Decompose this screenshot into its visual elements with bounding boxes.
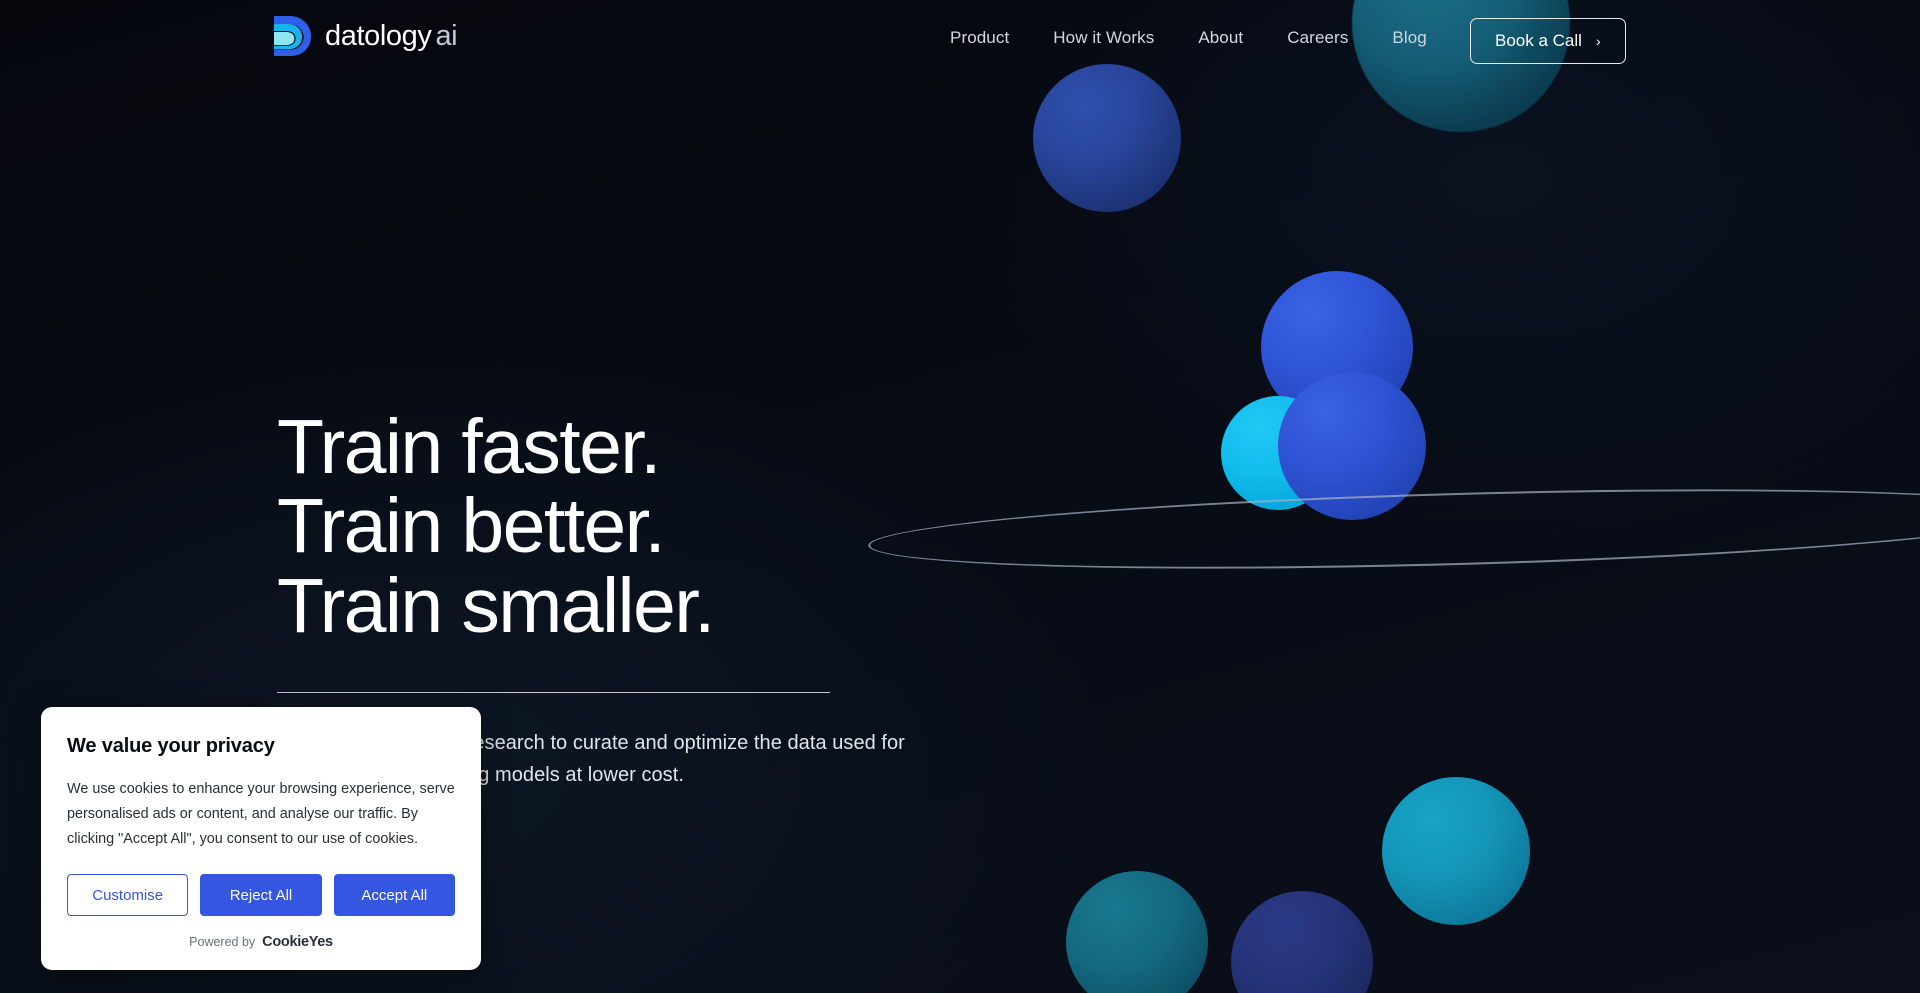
- decor-sphere-navy-bottom-mid: [1231, 891, 1373, 993]
- page-root: datologyai Product How it Works About Ca…: [0, 0, 1920, 993]
- site-header: datologyai Product How it Works About Ca…: [0, 0, 1920, 80]
- nav-item-about[interactable]: About: [1198, 28, 1243, 48]
- datology-d-arcs-logo: [270, 14, 312, 58]
- hero-headline-line-3: Train smaller.: [277, 567, 1017, 646]
- brand-wordmark: datologyai: [325, 22, 457, 51]
- powered-by-label: Powered by: [189, 935, 255, 949]
- cookie-banner-title: We value your privacy: [67, 735, 455, 758]
- brand-name: datology: [325, 20, 431, 52]
- hero-headline: Train faster. Train better. Train smalle…: [277, 408, 1017, 646]
- hero-divider: [277, 692, 830, 693]
- decor-sphere-navy-top: [1033, 64, 1181, 212]
- book-a-call-label: Book a Call: [1495, 31, 1582, 51]
- cookie-reject-all-button[interactable]: Reject All: [200, 874, 321, 916]
- nav-item-how-it-works[interactable]: How it Works: [1053, 28, 1154, 48]
- hero-headline-line-2: Train better.: [277, 487, 1017, 566]
- decor-sphere-cyan-bottom-right: [1382, 777, 1530, 925]
- nav-item-product[interactable]: Product: [950, 28, 1009, 48]
- cookieyes-brand-logo: CookieYes: [262, 934, 333, 950]
- brand-suffix: ai: [435, 20, 457, 52]
- nav-item-careers[interactable]: Careers: [1287, 28, 1348, 48]
- cookie-banner-body: We use cookies to enhance your browsing …: [67, 777, 455, 852]
- decor-sphere-teal-bottom-left: [1066, 871, 1208, 993]
- book-a-call-button[interactable]: Book a Call ›: [1470, 18, 1626, 64]
- primary-nav: Product How it Works About Careers Blog: [950, 28, 1427, 48]
- nav-item-blog[interactable]: Blog: [1392, 28, 1426, 48]
- cookie-banner-footer: Powered by CookieYes: [67, 934, 455, 954]
- cookie-accept-all-button[interactable]: Accept All: [334, 874, 455, 916]
- hero-headline-line-1: Train faster.: [277, 408, 1017, 487]
- cookie-banner-actions: Customise Reject All Accept All: [67, 874, 455, 916]
- cookie-customise-button[interactable]: Customise: [67, 874, 188, 916]
- brand-logo-link[interactable]: datologyai: [270, 14, 457, 58]
- cookie-consent-banner: We value your privacy We use cookies to …: [41, 707, 481, 970]
- chevron-right-icon: ›: [1596, 34, 1601, 48]
